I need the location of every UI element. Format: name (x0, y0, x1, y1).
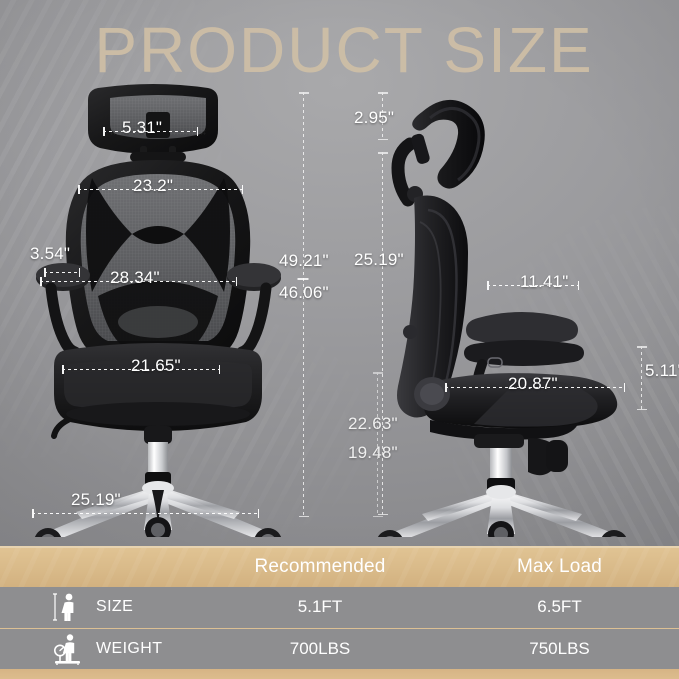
dimension-label-backrest-width: 23.2" (133, 176, 173, 196)
product-size-infographic: PRODUCT SIZE (0, 0, 679, 679)
dimension-line-base-diameter (32, 513, 259, 514)
table-header-recommended: Recommended (200, 556, 440, 578)
dimension-label-armrest-width: 3.54" (30, 244, 70, 264)
dimension-line-seat-thickness (641, 346, 642, 410)
table-footer-strip (0, 669, 679, 679)
dimension-label-overall-width: 28.34" (110, 268, 160, 288)
table-cell-size-max-load: 6.5FT (440, 597, 679, 617)
side-view-chair (370, 82, 660, 537)
dimension-line-overall-height (303, 92, 304, 517)
table-row-size-label-cell: SIZE (0, 590, 200, 624)
table-row-weight-label: WEIGHT (96, 640, 162, 658)
dimension-label-overall-height-min: 46.06" (279, 283, 329, 303)
table-row: WEIGHT 700LBS 750LBS (0, 628, 679, 669)
dimension-tick-overall-height (298, 278, 309, 280)
table-row-size-label: SIZE (96, 598, 133, 616)
dimension-label-seat-width: 21.65" (131, 356, 181, 376)
dimension-line-armrest-width (44, 272, 80, 273)
dimension-label-seat-thickness: 5.11" (645, 361, 679, 381)
dimension-label-backrest-height: 25.19" (354, 250, 404, 270)
spec-table: Recommended Max Load SIZE 5.1FT (0, 546, 679, 679)
table-cell-weight-recommended: 700LBS (200, 639, 440, 659)
front-view-chair (18, 82, 318, 537)
table-cell-size-recommended: 5.1FT (200, 597, 440, 617)
table-header-row: Recommended Max Load (0, 548, 679, 587)
table-cell-weight-max-load: 750LBS (440, 639, 679, 659)
page-title: PRODUCT SIZE (26, 18, 662, 82)
table-header-max-load: Max Load (440, 556, 679, 578)
dimension-label-seat-height-max: 22.63" (348, 414, 398, 434)
dimension-label-base-diameter: 25.19" (71, 490, 121, 510)
table-row-weight-label-cell: WEIGHT (0, 632, 200, 666)
dimension-label-headrest-height: 2.95" (354, 108, 394, 128)
dimension-label-seat-height-min: 19.48" (348, 443, 398, 463)
table-row: SIZE 5.1FT 6.5FT (0, 587, 679, 628)
dimension-label-armrest-depth: 11.41" (520, 272, 569, 292)
dimension-label-seat-depth: 20.87" (508, 374, 558, 394)
person-height-icon (52, 590, 86, 624)
person-scale-icon (52, 632, 86, 666)
dimension-label-overall-height-max: 49.21" (279, 251, 329, 271)
dimension-label-headrest-width: 5.31" (122, 118, 162, 138)
